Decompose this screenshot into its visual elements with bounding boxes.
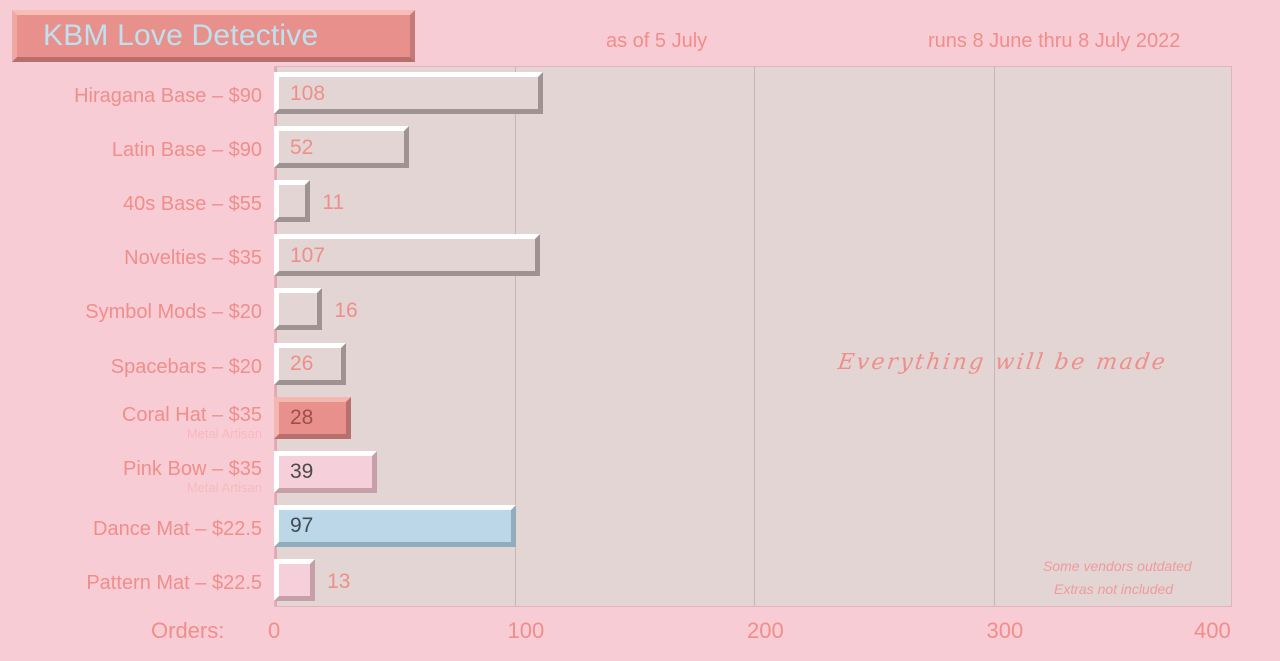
bar-value-label: 26 — [279, 353, 313, 374]
bar[interactable]: 39 — [274, 451, 377, 493]
chart-title-plate: KBM Love Detective — [12, 10, 415, 62]
bar-rows-container: Hiragana Base – $90108Latin Base – $9052… — [0, 66, 1280, 607]
annotation-everything-will-be-made: Everything will be made — [836, 350, 1169, 375]
bar[interactable]: 108 — [274, 72, 543, 114]
header-bar: KBM Love Detective as of 5 July runs 8 J… — [0, 0, 1280, 70]
bar-row-label: Latin Base – $90 — [12, 140, 262, 160]
bar-value-label: 28 — [279, 407, 313, 428]
bar-row-label: Pattern Mat – $22.5 — [12, 573, 262, 593]
bar-row[interactable]: Novelties – $35107 — [0, 228, 1280, 277]
bar[interactable] — [274, 288, 322, 330]
bar[interactable]: 97 — [274, 505, 516, 547]
annotation-extras-not-included: Extras not included — [1054, 581, 1173, 597]
x-tick-label: 0 — [268, 618, 280, 644]
bar-value-label: 11 — [322, 192, 344, 213]
bar[interactable]: 28 — [274, 397, 351, 439]
bar-row-sublabel: Metal Artisan — [12, 481, 262, 494]
as-of-label: as of 5 July — [606, 30, 707, 53]
bar-row[interactable]: Symbol Mods – $2016 — [0, 282, 1280, 331]
bar-row[interactable]: Pink Bow – $35Metal Artisan39 — [0, 445, 1280, 494]
bar-row[interactable]: Coral Hat – $35Metal Artisan28 — [0, 391, 1280, 440]
page-title: KBM Love Detective — [43, 19, 318, 53]
x-tick-label: 200 — [747, 618, 784, 644]
bar-value-label: 39 — [279, 461, 313, 482]
bar-value-label: 107 — [279, 245, 325, 266]
bar[interactable]: 107 — [274, 234, 540, 276]
bar-value-label: 52 — [279, 137, 313, 158]
bar[interactable] — [274, 180, 310, 222]
bar-row-label: Coral Hat – $35 — [12, 405, 262, 425]
bar-row-sublabel: Metal Artisan — [12, 427, 262, 440]
bar[interactable]: 26 — [274, 343, 346, 385]
bar-value-label: 16 — [334, 300, 357, 321]
bar-row-label: Novelties – $35 — [12, 248, 262, 268]
x-tick-label: 100 — [508, 618, 545, 644]
bar-row-label: Pink Bow – $35 — [12, 459, 262, 479]
x-axis-title: Orders: — [151, 618, 224, 644]
bar-value-label: 13 — [327, 571, 350, 592]
annotation-vendors-outdated: Some vendors outdated — [1043, 558, 1192, 574]
bar-row[interactable]: Dance Mat – $22.597 — [0, 499, 1280, 548]
bar-row-label: Hiragana Base – $90 — [12, 86, 262, 106]
bar-row[interactable]: 40s Base – $5511 — [0, 174, 1280, 223]
campaign-range-label: runs 8 June thru 8 July 2022 — [928, 30, 1180, 53]
bar-value-label: 108 — [279, 83, 325, 104]
bar-value-label: 97 — [279, 515, 313, 536]
bar-row-label: Symbol Mods – $20 — [12, 302, 262, 322]
x-tick-label: 300 — [987, 618, 1024, 644]
bar-row[interactable]: Hiragana Base – $90108 — [0, 66, 1280, 115]
bar[interactable] — [274, 559, 315, 601]
bar-row-label: Dance Mat – $22.5 — [12, 519, 262, 539]
bar-row[interactable]: Latin Base – $9052 — [0, 120, 1280, 169]
bar-row-label: 40s Base – $55 — [12, 194, 262, 214]
bar[interactable]: 52 — [274, 126, 409, 168]
x-tick-label: 400 — [1194, 618, 1231, 644]
x-axis: Orders: 0100200300400 — [0, 618, 1280, 658]
bar-row-label: Spacebars – $20 — [12, 357, 262, 377]
